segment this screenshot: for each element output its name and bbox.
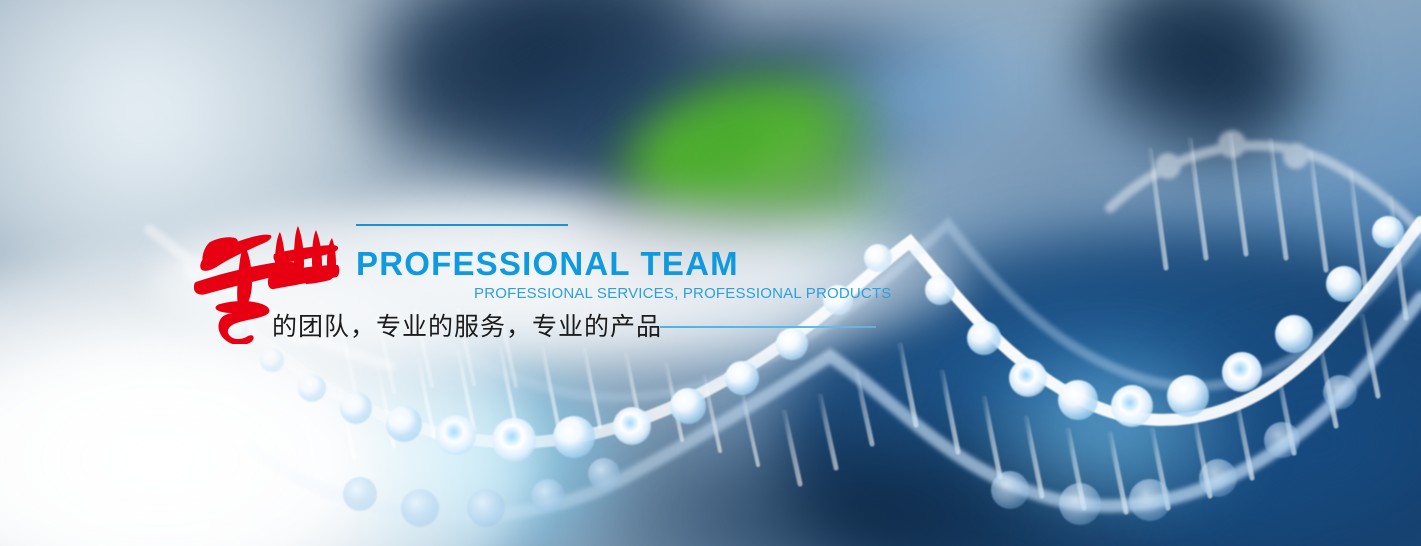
rule-top bbox=[356, 224, 568, 226]
page-title: PROFESSIONAL TEAM bbox=[356, 245, 739, 283]
page-subtitle: PROFESSIONAL SERVICES, PROFESSIONAL PROD… bbox=[474, 285, 892, 302]
rule-bottom bbox=[660, 326, 876, 328]
banner: PROFESSIONAL TEAM PROFESSIONAL SERVICES,… bbox=[0, 0, 1421, 546]
banner-content: PROFESSIONAL TEAM PROFESSIONAL SERVICES,… bbox=[0, 0, 1421, 546]
tagline-chinese: 的团队，专业的服务，专业的产品 bbox=[272, 307, 662, 343]
